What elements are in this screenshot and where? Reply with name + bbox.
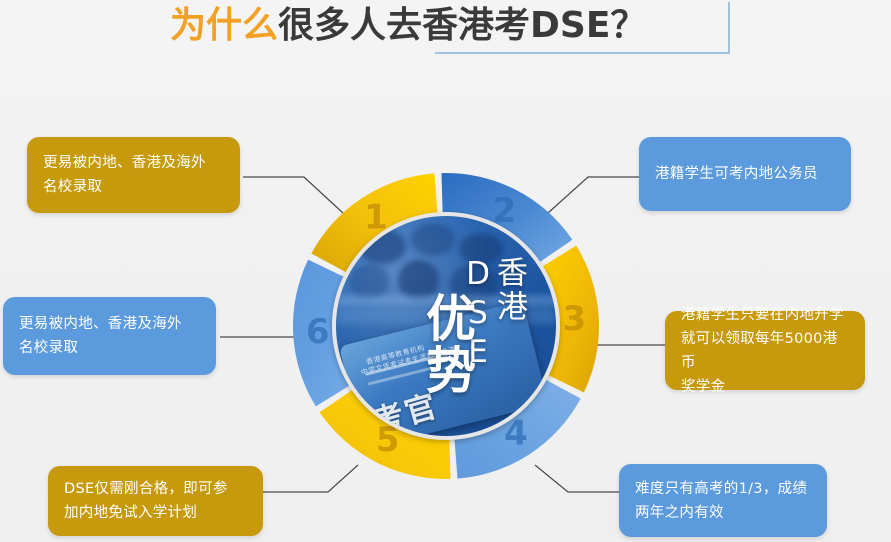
advantages-donut-chart: 123456 香港高等教育机构 中学文凭考试考生须知（香港） 考官 xyxy=(288,168,604,484)
donut-number-3: 3 xyxy=(562,299,586,339)
callout-text-4: 难度只有高考的1/3，成绩 两年之内有效 xyxy=(635,477,807,525)
callout-advantage-2[interactable]: 港籍学生可考内地公务员 xyxy=(639,137,851,211)
center-label-group: 香港DSE 优势 xyxy=(336,216,556,436)
callout-advantage-6[interactable]: 更易被内地、香港及海外 名校录取 xyxy=(3,297,216,375)
callout-text-5: DSE仅需刚合格，即可参 加内地免试入学计划 xyxy=(64,477,228,525)
callout-advantage-4[interactable]: 难度只有高考的1/3，成绩 两年之内有效 xyxy=(619,464,827,537)
center-disc: 香港高等教育机构 中学文凭考试考生须知（香港） 考官 香港DSE 优势 xyxy=(332,212,560,440)
callout-text-1: 更易被内地、香港及海外 名校录取 xyxy=(43,151,206,199)
callout-advantage-5[interactable]: DSE仅需刚合格，即可参 加内地免试入学计划 xyxy=(48,466,263,536)
center-main-label: 优势 xyxy=(414,292,472,396)
donut-number-6: 6 xyxy=(306,312,330,352)
callout-text-2: 港籍学生可考内地公务员 xyxy=(655,162,818,186)
callout-text-3: 港籍学生只要在内地升学 就可以领取每年5000港币 奖学金 xyxy=(681,303,849,399)
infographic-canvas: 为什么很多人去香港考DSE？ xyxy=(0,0,891,542)
center-sub-label: 香港DSE xyxy=(488,256,524,436)
callout-text-6: 更易被内地、香港及海外 名校录取 xyxy=(19,312,182,360)
callout-advantage-1[interactable]: 更易被内地、香港及海外 名校录取 xyxy=(27,137,240,213)
callout-advantage-3[interactable]: 港籍学生只要在内地升学 就可以领取每年5000港币 奖学金 xyxy=(665,311,865,390)
